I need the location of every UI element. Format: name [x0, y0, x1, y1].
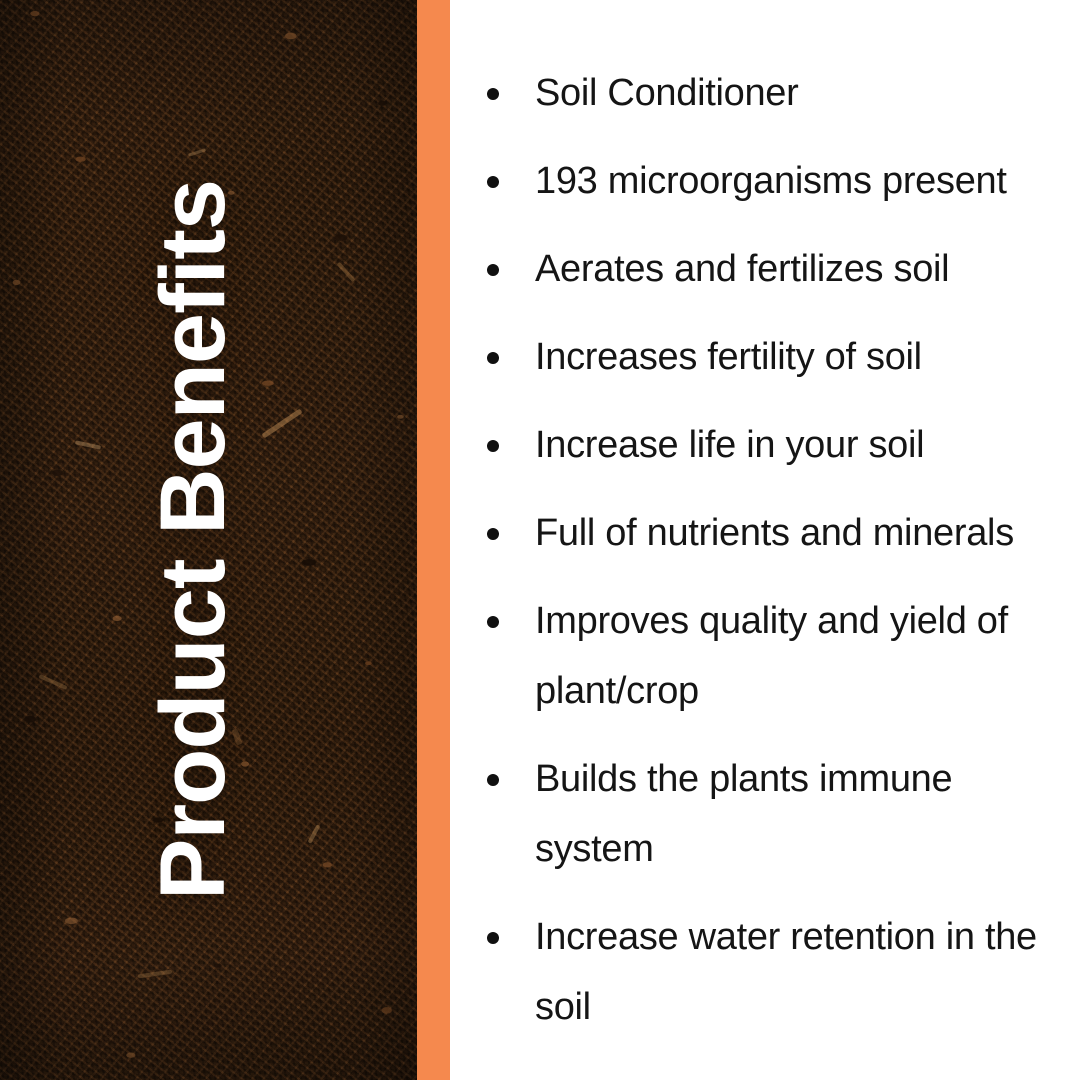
benefits-list-panel: Soil Conditioner 193 microorganisms pres… [450, 0, 1080, 1080]
list-item-label: Soil Conditioner [535, 58, 1060, 128]
list-item-label: Increases fertility of soil [535, 322, 1060, 392]
list-item-label: Aerates and fertilizes soil [535, 234, 1060, 304]
bullet-dot-icon [487, 932, 499, 944]
list-item: Full of nutrients and minerals [485, 498, 1060, 568]
list-item: Increase life in your soil [485, 410, 1060, 480]
list-item: Builds the plants immune system [485, 744, 1060, 884]
list-item-label: Improves quality and yield of plant/crop [535, 586, 1060, 726]
bullet-dot-icon [487, 88, 499, 100]
bullet-dot-icon [487, 352, 499, 364]
soil-image-panel: Product Benefits [0, 0, 417, 1080]
list-item: Soil Conditioner [485, 58, 1060, 128]
bullet-dot-icon [487, 264, 499, 276]
list-item: 193 microorganisms present [485, 146, 1060, 216]
list-item: Increases fertility of soil [485, 322, 1060, 392]
bullet-dot-icon [487, 528, 499, 540]
list-item-label: 193 microorganisms present [535, 146, 1060, 216]
bullet-dot-icon [487, 176, 499, 188]
list-item-label: Full of nutrients and minerals [535, 498, 1060, 568]
product-benefits-poster: Product Benefits Soil Conditioner 193 mi… [0, 0, 1080, 1080]
soil-texture-background [0, 0, 417, 1080]
list-item: Improves quality and yield of plant/crop [485, 586, 1060, 726]
list-item: Aerates and fertilizes soil [485, 234, 1060, 304]
list-item-label: Increase water retention in the soil [535, 902, 1060, 1042]
bullet-dot-icon [487, 616, 499, 628]
list-item-label: Increase life in your soil [535, 410, 1060, 480]
bullet-dot-icon [487, 440, 499, 452]
bullet-dot-icon [487, 774, 499, 786]
accent-divider-bar [417, 0, 450, 1080]
list-item-label: Builds the plants immune system [535, 744, 1060, 884]
benefits-list: Soil Conditioner 193 microorganisms pres… [485, 58, 1060, 1042]
list-item: Increase water retention in the soil [485, 902, 1060, 1042]
